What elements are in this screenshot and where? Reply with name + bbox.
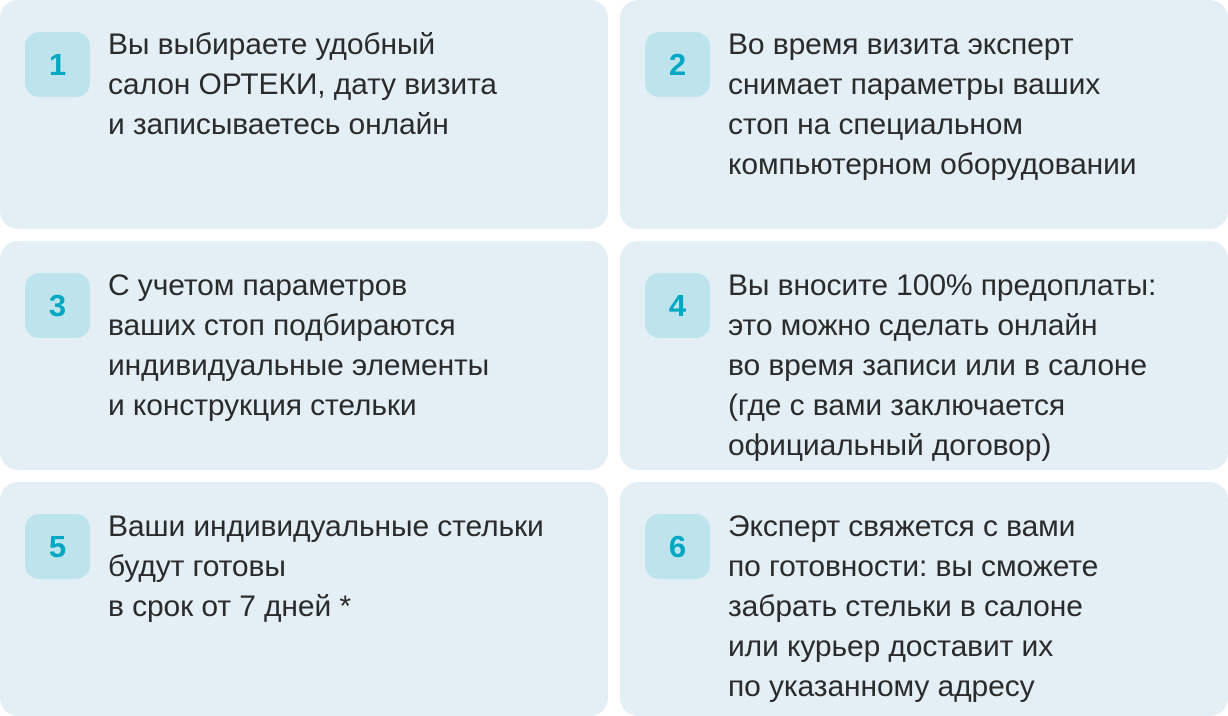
step-card-6: 6 Эксперт свяжется с вами по готовности:…	[620, 482, 1228, 716]
step-badge-1: 1	[25, 32, 90, 97]
step-badge-2: 2	[645, 32, 710, 97]
step-card-2: 2 Во время визита эксперт снимает параме…	[620, 0, 1228, 229]
step-description-4: Вы вносите 100% предоплаты: это можно сд…	[728, 266, 1156, 466]
step-badge-4: 4	[645, 273, 710, 338]
step-number-label: 5	[49, 531, 66, 562]
step-number-label: 2	[669, 49, 686, 80]
step-description-1: Вы выбираете удобный салон ОРТЕКИ, дату …	[108, 25, 497, 145]
step-badge-5: 5	[25, 514, 90, 579]
step-card-1: 1 Вы выбираете удобный салон ОРТЕКИ, дат…	[0, 0, 608, 229]
step-badge-3: 3	[25, 273, 90, 338]
steps-grid: 1 Вы выбираете удобный салон ОРТЕКИ, дат…	[0, 0, 1228, 716]
step-description-6: Эксперт свяжется с вами по готовности: в…	[728, 507, 1098, 707]
step-description-5: Ваши индивидуальные стельки будут готовы…	[108, 507, 544, 627]
step-number-label: 6	[669, 531, 686, 562]
step-number-label: 4	[669, 290, 686, 321]
step-description-3: С учетом параметров ваших стоп подбирают…	[108, 266, 489, 426]
step-description-2: Во время визита эксперт снимает параметр…	[728, 25, 1136, 185]
step-card-4: 4 Вы вносите 100% предоплаты: это можно …	[620, 241, 1228, 470]
step-card-3: 3 С учетом параметров ваших стоп подбира…	[0, 241, 608, 470]
step-card-5: 5 Ваши индивидуальные стельки будут гото…	[0, 482, 608, 716]
step-number-label: 3	[49, 290, 66, 321]
step-badge-6: 6	[645, 514, 710, 579]
step-number-label: 1	[49, 49, 66, 80]
